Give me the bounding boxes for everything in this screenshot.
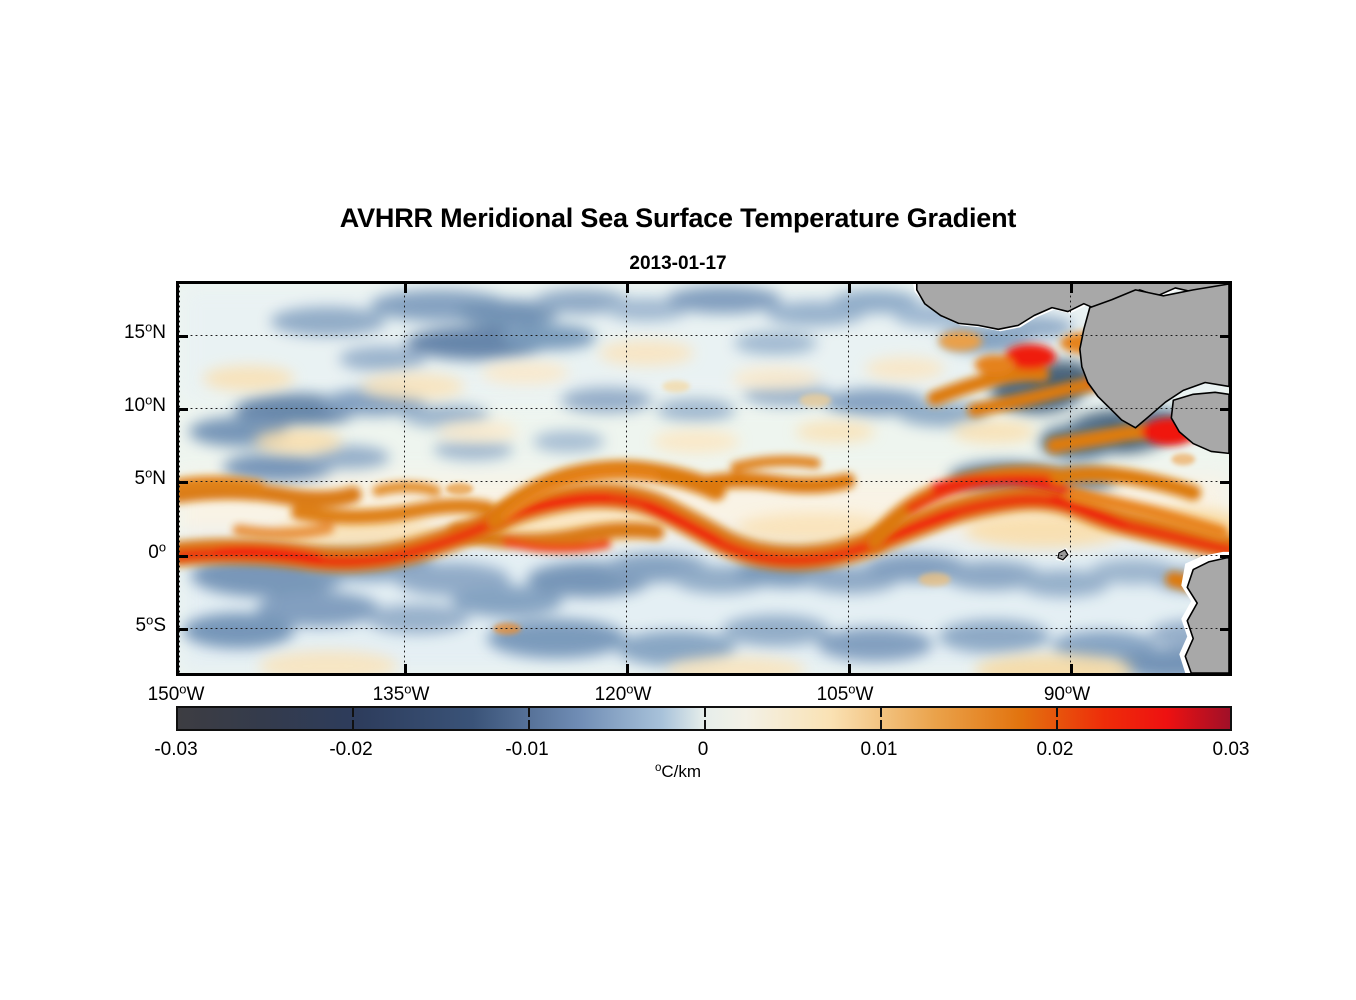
cbar-label-0.01-text: 0.01 [861,739,898,760]
cbar-tick--0.01 [528,708,530,717]
cbar-label-0.03: 0.03 [1156,739,1306,761]
cbar-label--0.03: -0.03 [101,739,251,761]
ytick-label-0-text: 0o [148,542,166,563]
cbar-tick-bot--0.01 [528,720,530,729]
ytick-label-5n-text: 5oN [135,468,167,489]
colorbar[interactable] [176,706,1232,731]
ytick-label-5s: 5oS [56,615,166,637]
xtick-label-120w-text: 120oW [595,684,652,705]
ytick-label-15n: 15oN [56,322,166,344]
xtick-label-120w: 120oW [543,684,703,706]
ytick-label-0: 0o [56,542,166,564]
cbar-label--0.02: -0.02 [276,739,426,761]
cbar-label-0.01: 0.01 [804,739,954,761]
cbar-tick-bot-0 [704,720,706,729]
ytick-label-15n-text: 15oN [124,322,166,343]
figure-subtitle: 2013-01-17 [0,253,1356,275]
cbar-label--0.03-text: -0.03 [154,739,197,760]
cbar-tick-0.01 [880,708,882,717]
cbar-label--0.02-text: -0.02 [329,739,372,760]
cbar-label-0: 0 [628,739,778,761]
xtick-label-105w: 105oW [765,684,925,706]
map-axes[interactable] [176,281,1232,676]
cbar-tick-bot--0.02 [352,720,354,729]
cbar-label-0.02: 0.02 [980,739,1130,761]
sst-gradient-field [179,284,1229,673]
cbar-label-0-text: 0 [698,739,709,760]
ytick-label-10n: 10oN [56,395,166,417]
cbar-tick-bot-0.01 [880,720,882,729]
cbar-label--0.01: -0.01 [452,739,602,761]
xtick-label-105w-text: 105oW [817,684,874,705]
xtick-label-135w-text: 135oW [373,684,430,705]
xtick-label-90w: 90oW [987,684,1147,706]
xtick-label-135w: 135oW [321,684,481,706]
ytick-label-5n: 5oN [56,468,166,490]
xtick-label-150w-text: 150oW [148,684,205,705]
cbar-tick--0.02 [352,708,354,717]
colorbar-unit-label: oC/km [0,762,1356,782]
figure-canvas: AVHRR Meridional Sea Surface Temperature… [0,0,1356,1000]
xtick-label-90w-text: 90oW [1044,684,1090,705]
figure-title: AVHRR Meridional Sea Surface Temperature… [0,203,1356,234]
cbar-label--0.01-text: -0.01 [505,739,548,760]
cbar-tick-bot-0.02 [1056,720,1058,729]
cbar-label-0.03-text: 0.03 [1213,739,1250,760]
cbar-tick-0 [704,708,706,717]
cbar-tick-0.02 [1056,708,1058,717]
ytick-label-10n-text: 10oN [124,395,166,416]
xtick-label-150w: 150oW [96,684,256,706]
cbar-label-0.02-text: 0.02 [1037,739,1074,760]
ytick-label-5s-text: 5oS [136,615,166,636]
